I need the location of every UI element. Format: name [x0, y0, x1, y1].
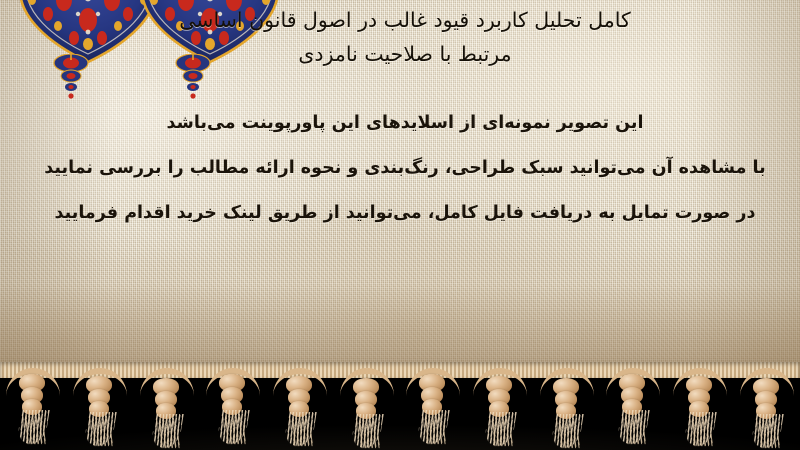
fringe-tassel: [677, 376, 723, 446]
slide-body-line-2: با مشاهده آن می‌توانید سبک طراحی، رنگ‌بن…: [20, 158, 790, 179]
slide-body-line-1: این تصویر نمونه‌ای از اسلایدهای این پاور…: [20, 113, 790, 134]
tassel-fray: [89, 416, 113, 446]
tassel-fray: [156, 418, 180, 448]
tassel-fray: [689, 416, 713, 446]
fringe-tassel: [610, 374, 656, 444]
slide-title-line-2: مرتبط با صلاحیت نامزدی: [20, 42, 790, 66]
presentation-slide: کامل تحلیل کاربرد قیود غالب در اصول قانو…: [0, 0, 800, 450]
tassel-fray: [489, 416, 513, 446]
fringe-tassel: [77, 376, 123, 446]
fringe-tassel: [477, 376, 523, 446]
fringe-tassel: [744, 378, 790, 448]
fringe-tassel: [10, 374, 56, 444]
tassel-fray: [756, 418, 780, 448]
carpet-fringe: [0, 374, 800, 450]
slide-title-line-1: کامل تحلیل کاربرد قیود غالب در اصول قانو…: [20, 8, 790, 32]
fringe-tassel: [344, 378, 390, 448]
fringe-tassel: [544, 378, 590, 448]
fringe-tassel: [410, 374, 456, 444]
slide-text-layer: کامل تحلیل کاربرد قیود غالب در اصول قانو…: [0, 0, 800, 372]
fringe-tassel: [210, 374, 256, 444]
tassel-fray: [356, 418, 380, 448]
fringe-tassel: [144, 378, 190, 448]
fringe-tassel: [277, 376, 323, 446]
tassel-fray: [556, 418, 580, 448]
tassel-fray: [289, 416, 313, 446]
slide-body-line-3: در صورت تمایل به دریافت فایل کامل، می‌تو…: [20, 203, 790, 224]
